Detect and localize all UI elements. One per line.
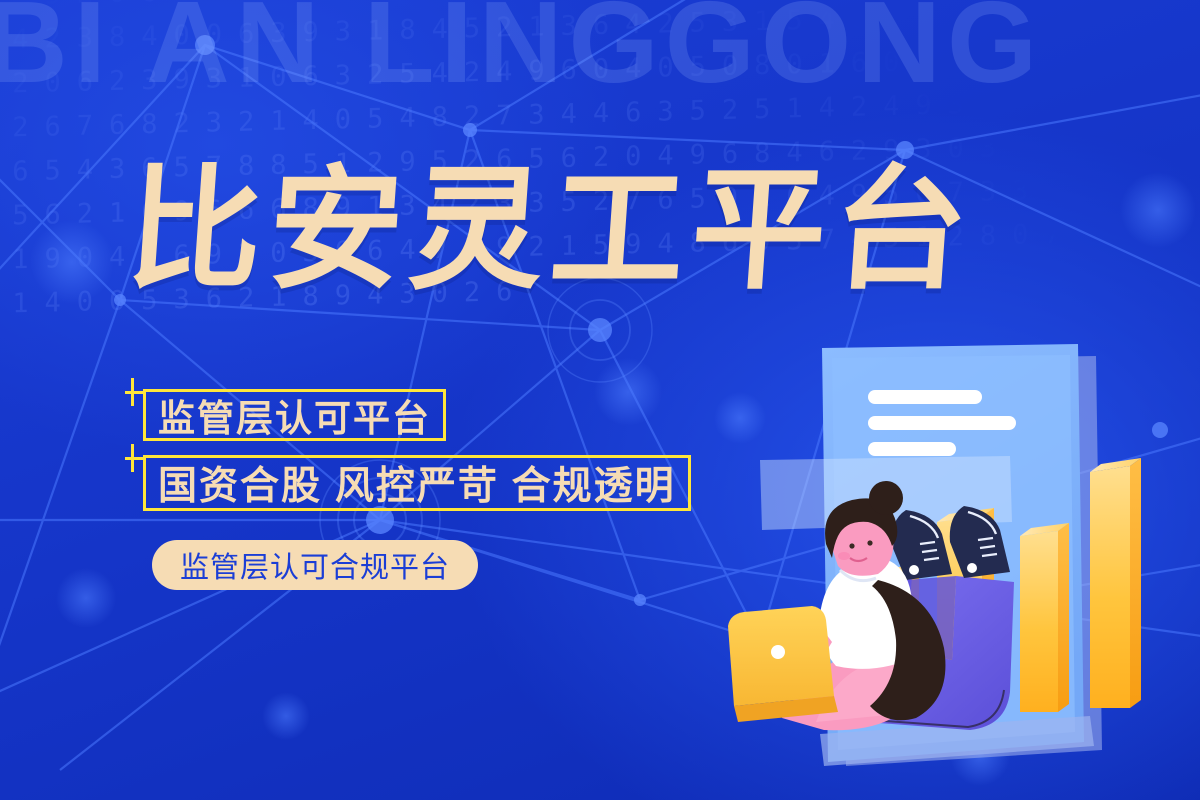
- eye: [849, 543, 854, 548]
- laptop: [728, 606, 838, 722]
- page-title: 比安灵工平台: [123, 163, 978, 297]
- feature-tag-1: 监管层认可平台: [143, 389, 446, 441]
- bar-4: [1090, 458, 1141, 708]
- bar-3: [1020, 523, 1069, 712]
- hero-illustration: [720, 330, 1200, 800]
- background-pinyin-text: BI AN LINGGONG: [0, 0, 1200, 100]
- laptop-logo-icon: [771, 645, 785, 659]
- hair-bun: [869, 481, 903, 515]
- eye: [867, 540, 872, 545]
- blush: [838, 552, 850, 560]
- feature-tag-2: 国资合股 风控严苛 合规透明: [143, 455, 691, 511]
- compliance-pill-badge[interactable]: 监管层认可合规平台: [152, 540, 478, 590]
- promo-banner: 9652084497035064293883529266573150743294…: [0, 0, 1200, 800]
